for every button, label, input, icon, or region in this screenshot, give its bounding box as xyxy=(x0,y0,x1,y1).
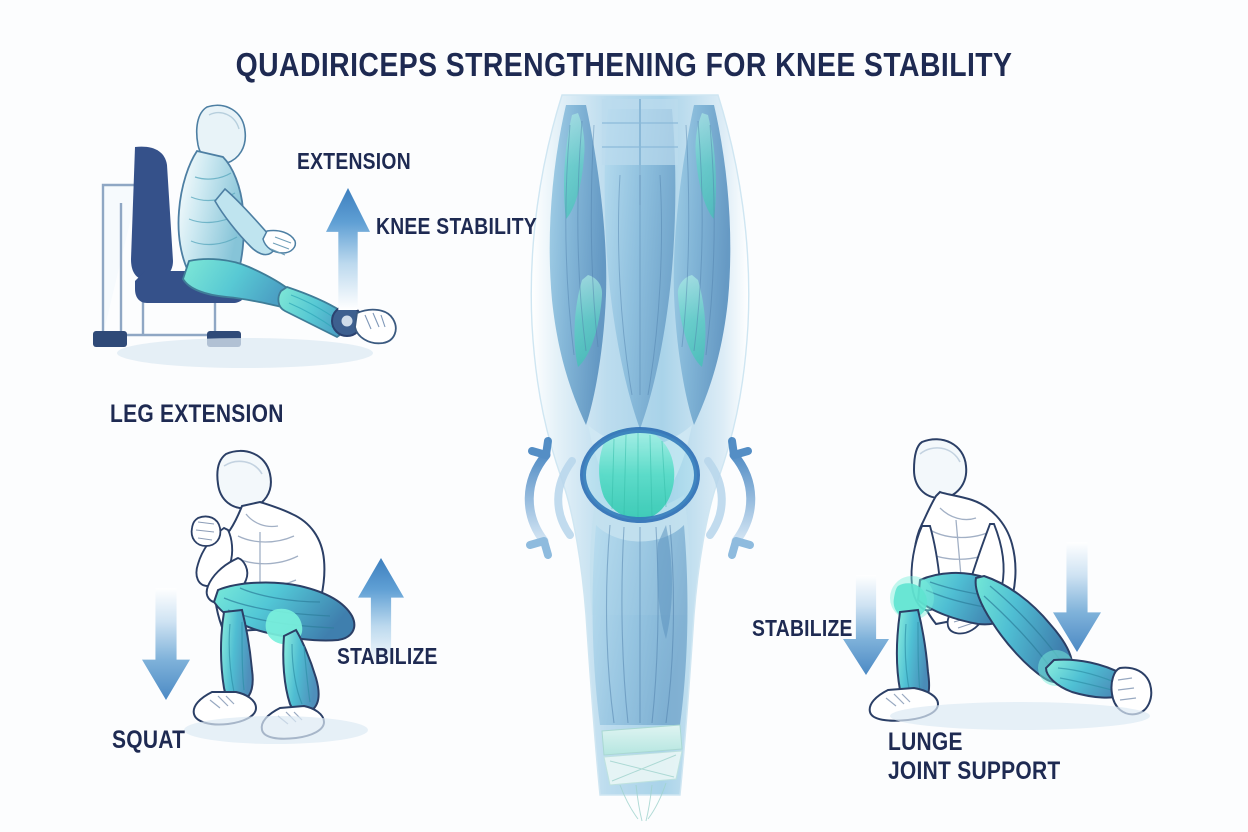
caption-lunge: LUNGE xyxy=(888,728,963,757)
label-stabilize-squat: STABILIZE xyxy=(337,643,438,670)
seat-back-pad xyxy=(131,147,173,282)
caption-joint-support: JOINT SUPPORT xyxy=(888,757,1060,786)
ground-shadow xyxy=(117,338,373,368)
label-knee-stability: KNEE STABILITY xyxy=(376,213,537,240)
lunge-figure xyxy=(860,420,1160,720)
head xyxy=(217,451,271,508)
label-extension: EXTENSION xyxy=(297,148,411,175)
quadriceps-muscle-group xyxy=(550,99,731,429)
label-stabilize-lunge: STABILIZE xyxy=(752,615,853,642)
anatomy-illustration xyxy=(470,95,810,825)
shoe xyxy=(355,310,396,344)
page-title: QUADIRICEPS STRENGTHENING FOR KNEE STABI… xyxy=(87,46,1160,84)
caption-squat: SQUAT xyxy=(112,726,185,755)
infographic-canvas: QUADIRICEPS STRENGTHENING FOR KNEE STABI… xyxy=(0,0,1248,832)
caption-leg-extension: LEG EXTENSION xyxy=(110,400,284,429)
ground-shadow xyxy=(890,702,1150,730)
ground-shadow xyxy=(184,716,368,744)
machine-foot-left xyxy=(93,331,127,347)
